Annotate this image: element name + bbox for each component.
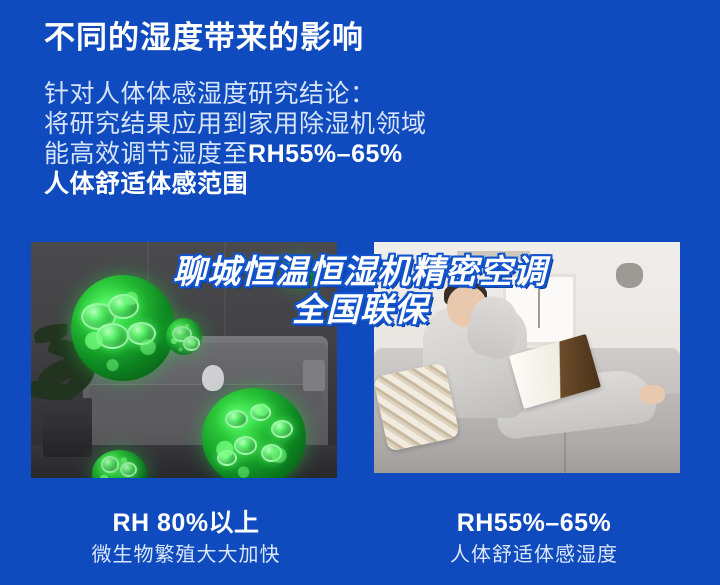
plant-pot	[43, 398, 92, 457]
photo-panel-comfort-humidity	[374, 242, 680, 473]
page-title: 不同的湿度带来的影响	[44, 18, 364, 58]
side-lamp	[303, 360, 324, 391]
caption-left-title: RH 80%以上	[16, 508, 356, 538]
dark-room-scene	[31, 242, 337, 478]
microbe-cluster-icon	[92, 450, 147, 478]
caption-left-subtitle: 微生物繁殖大大加快	[16, 543, 356, 568]
microbe-cluster-icon	[202, 388, 306, 478]
wall-seam-icon	[224, 242, 226, 351]
person-foot	[640, 385, 664, 403]
intro-line-4: 人体舒适体感范围	[44, 169, 514, 199]
caption-high-humidity: RH 80%以上 微生物繁殖大大加快	[16, 508, 356, 568]
caption-right-subtitle: 人体舒适体感湿度	[364, 543, 704, 568]
twig-decor-icon	[538, 288, 540, 328]
photo-panel-high-humidity	[31, 242, 337, 478]
caption-right-title: RH55%–65%	[364, 508, 704, 538]
intro-paragraph: 针对人体体感湿度研究结论： 将研究结果应用到家用除湿机领域 能高效调节湿度至RH…	[44, 79, 514, 199]
intro-line-1: 针对人体体感湿度研究结论：	[44, 79, 514, 109]
humidity-infographic-poster: 不同的湿度带来的影响 针对人体体感湿度研究结论： 将研究结果应用到家用除湿机领域…	[0, 0, 720, 585]
microbe-cluster-icon	[282, 256, 316, 289]
intro-line-3: 能高效调节湿度至RH55%–65%	[44, 139, 514, 169]
wall-speaker-icon	[616, 263, 644, 288]
vase-decor	[202, 365, 223, 391]
humidity-range-highlight: RH55%–65%	[248, 140, 403, 168]
bright-room-scene	[374, 242, 680, 473]
microbe-cluster-icon	[71, 275, 175, 381]
wall-shelf	[457, 251, 530, 260]
intro-line-3-prefix: 能高效调节湿度至	[44, 140, 248, 168]
microbe-cluster-icon	[166, 318, 203, 356]
caption-comfort-humidity: RH55%–65% 人体舒适体感湿度	[364, 508, 704, 568]
intro-line-2: 将研究结果应用到家用除湿机领域	[44, 109, 514, 139]
